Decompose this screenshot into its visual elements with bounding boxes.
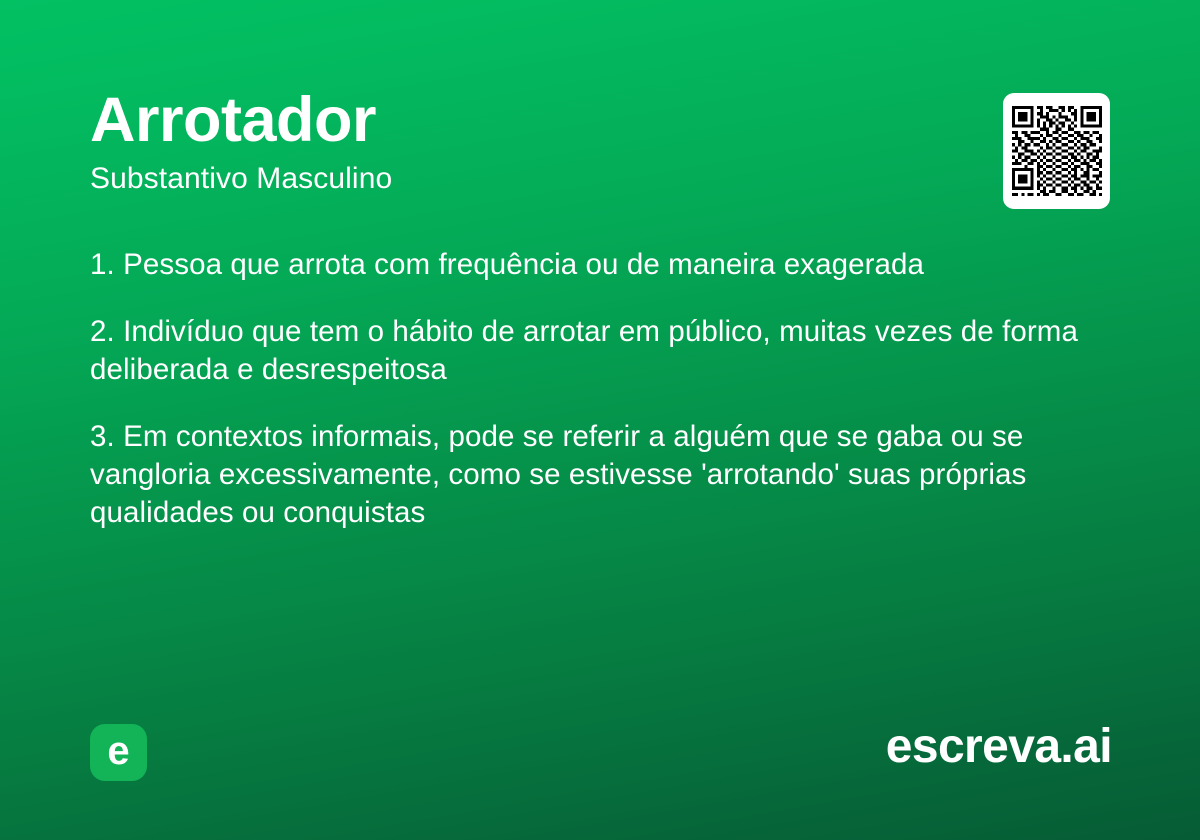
dictionary-card: Arrotador Substantivo Masculino 1. Pesso… [0, 0, 1200, 840]
escreva-logo-badge[interactable]: e [90, 724, 147, 781]
definition-item: 2. Indivíduo que tem o hábito de arrotar… [90, 313, 1110, 389]
brand-wordmark: escreva.ai [886, 723, 1112, 771]
definition-item: 3. Em contextos informais, pode se refer… [90, 418, 1110, 532]
definition-item: 1. Pessoa que arrota com frequência ou d… [90, 246, 1110, 284]
qr-code-icon [1012, 106, 1102, 196]
page-title: Arrotador [90, 88, 970, 153]
word-class-label: Substantivo Masculino [90, 162, 970, 197]
definition-list: 1. Pessoa que arrota com frequência ou d… [90, 246, 1110, 532]
logo-letter-e-icon: e [107, 731, 129, 771]
card-header: Arrotador Substantivo Masculino [90, 88, 970, 196]
qr-code-card[interactable] [1003, 93, 1110, 209]
